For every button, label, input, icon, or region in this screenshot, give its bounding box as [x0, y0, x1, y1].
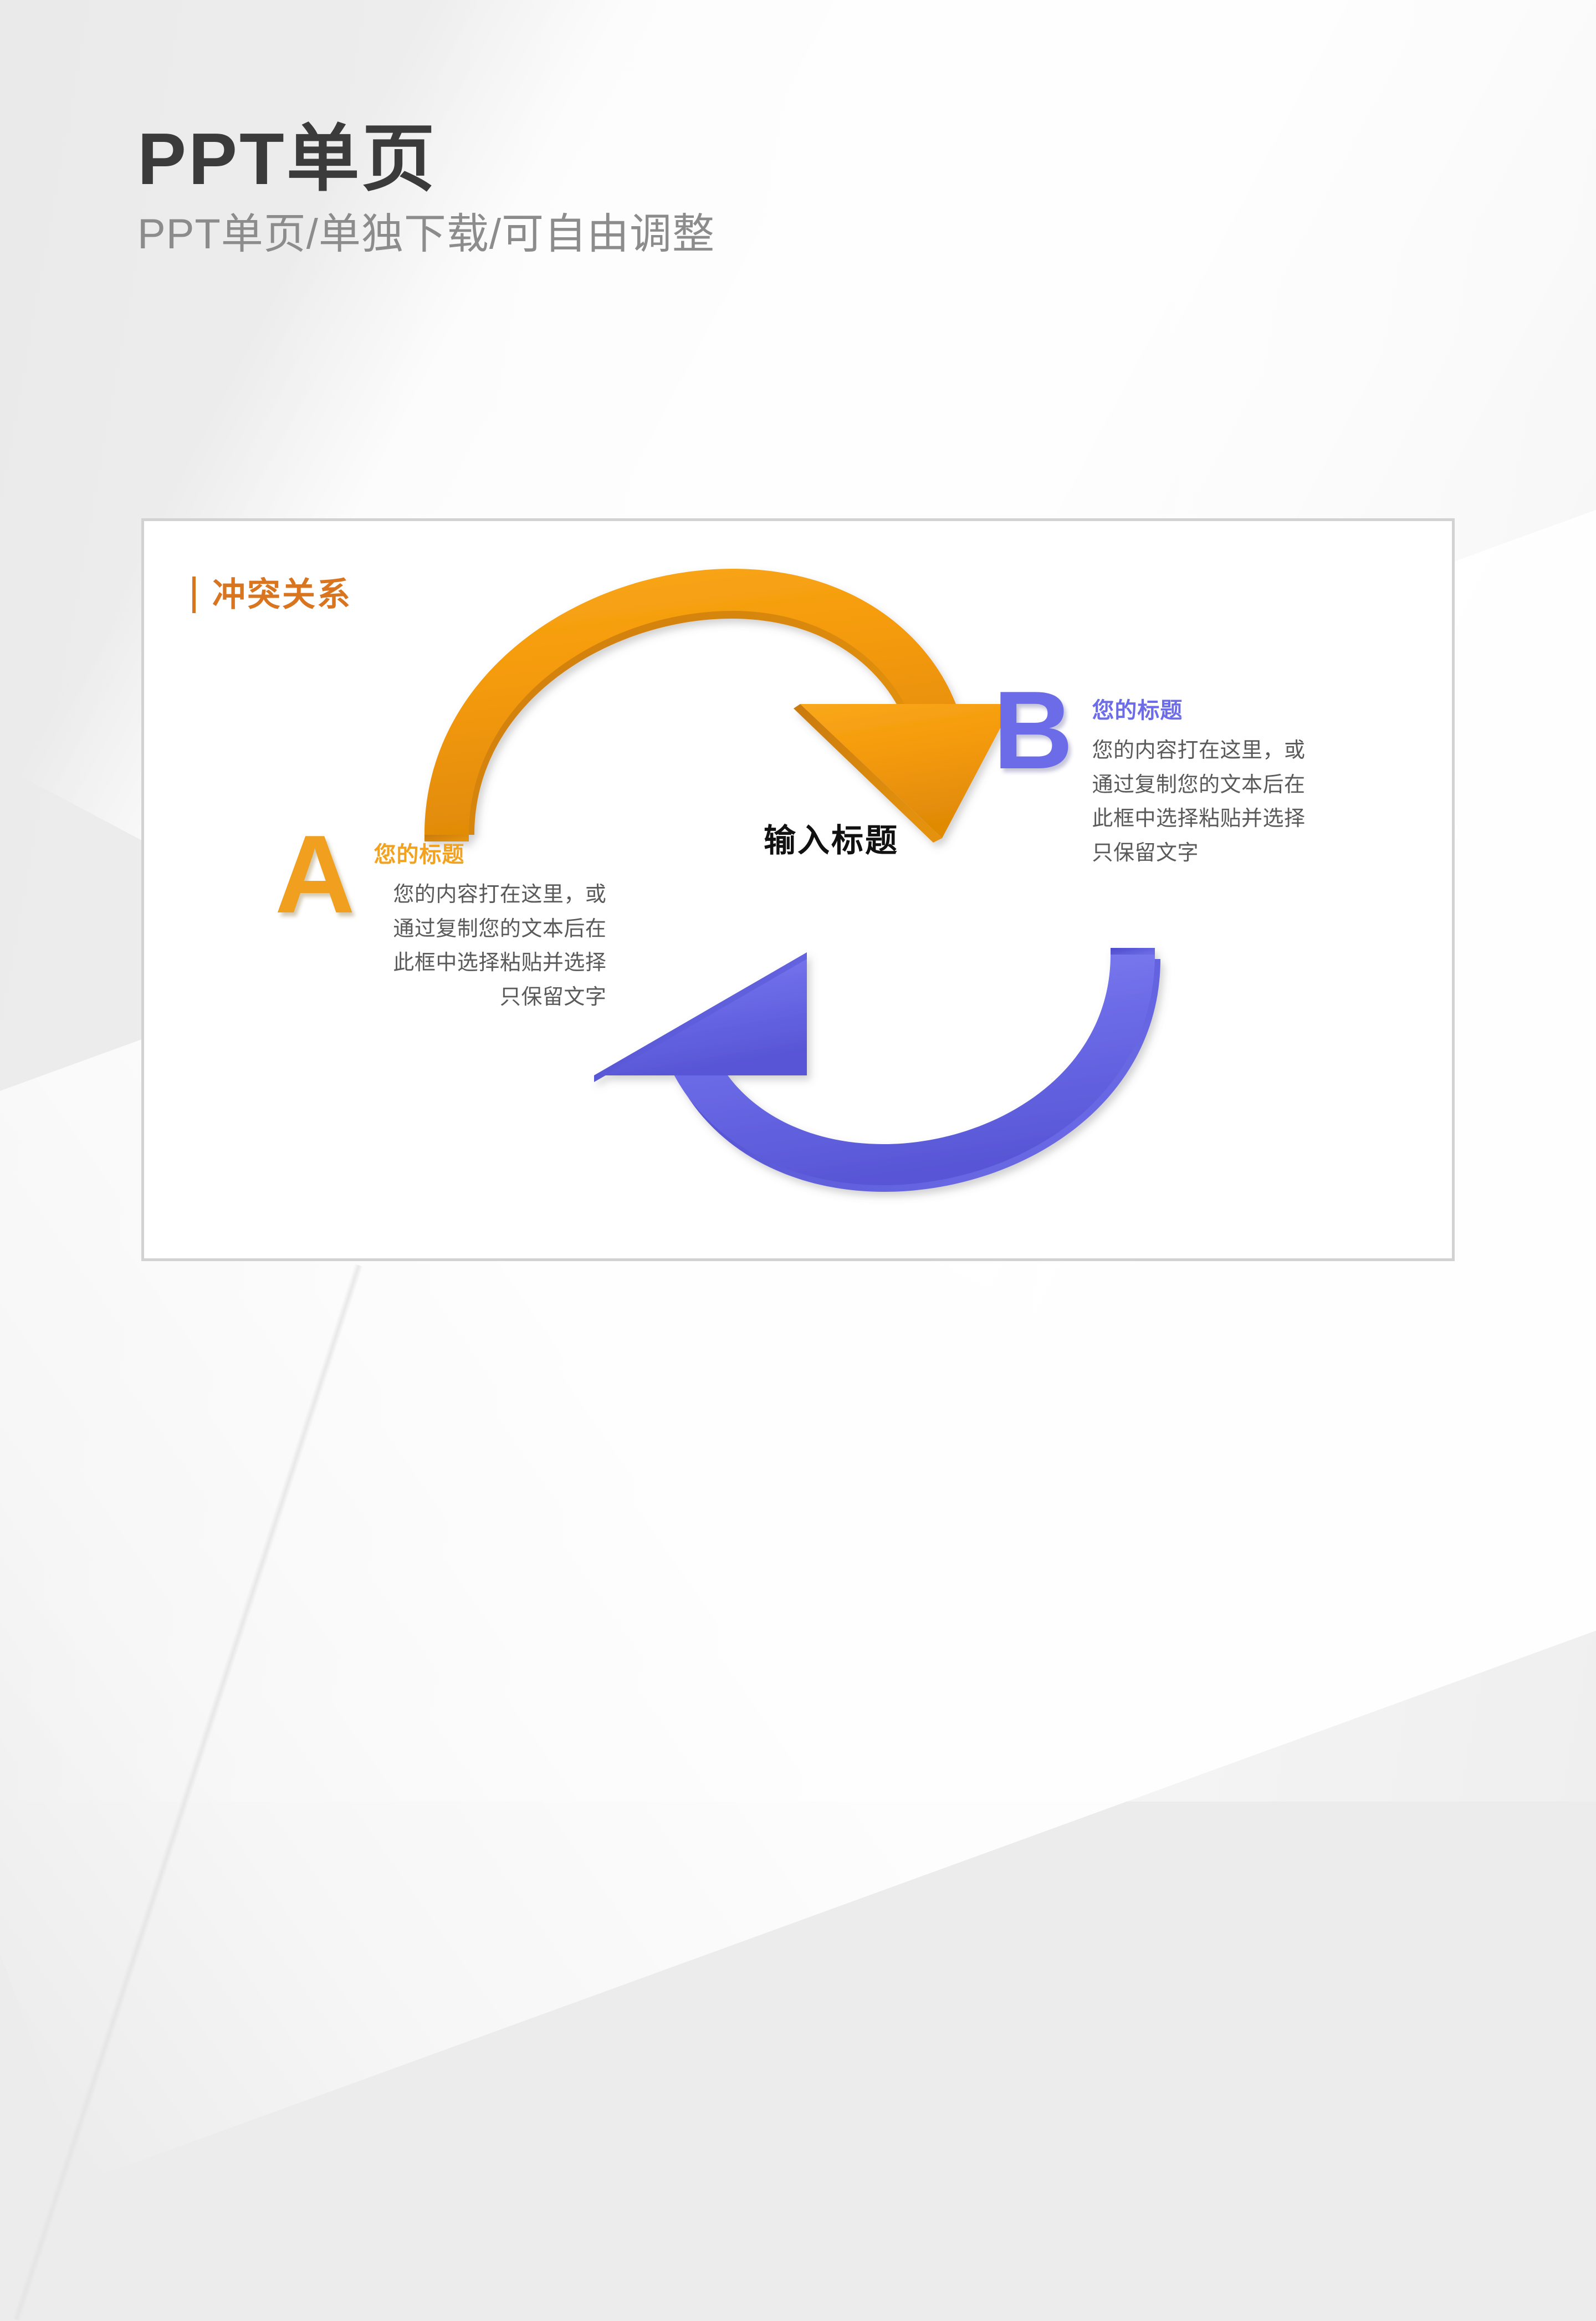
top-arc-arrow: [424, 569, 1013, 843]
node-a-title: 您的标题: [374, 841, 606, 868]
bottom-arc-arrow: [594, 948, 1160, 1192]
bottom-arc-tail-cap: [1111, 948, 1155, 955]
node-b: B 您的标题 您的内容打在这里，或通过复制您的文本后在此框中选择粘贴并选择只保留…: [993, 685, 1324, 870]
page-subtitle: PPT单页/单独下载/可自由调整: [137, 208, 1246, 261]
page-header: PPT单页 PPT单页/单独下载/可自由调整: [137, 121, 1246, 261]
page-title: PPT单页: [137, 121, 1246, 197]
top-arc-band: [424, 569, 958, 835]
slide-preview-card[interactable]: 冲突关系: [141, 518, 1455, 1261]
top-arrow-head: [800, 704, 1013, 838]
center-title: 输入标题: [720, 825, 942, 857]
node-b-body: 您的内容打在这里，或通过复制您的文本后在此框中选择粘贴并选择只保留文字: [1092, 734, 1324, 870]
node-a-letter: A: [275, 829, 355, 920]
node-a-body: 您的内容打在这里，或通过复制您的文本后在此框中选择粘贴并选择只保留文字: [374, 878, 606, 1014]
node-b-letter: B: [993, 685, 1073, 776]
conflict-relationship-diagram: 输入标题 A 您的标题 您的内容打在这里，或通过复制您的文本后在此框中选择粘贴并…: [144, 521, 1452, 1258]
node-a: A 您的标题 您的内容打在这里，或通过复制您的文本后在此框中选择粘贴并选择只保留…: [275, 829, 606, 1014]
node-b-text: 您的标题 您的内容打在这里，或通过复制您的文本后在此框中选择粘贴并选择只保留文字: [1092, 685, 1324, 870]
node-a-text: 您的标题 您的内容打在这里，或通过复制您的文本后在此框中选择粘贴并选择只保留文字: [374, 829, 606, 1014]
node-b-title: 您的标题: [1092, 697, 1324, 724]
